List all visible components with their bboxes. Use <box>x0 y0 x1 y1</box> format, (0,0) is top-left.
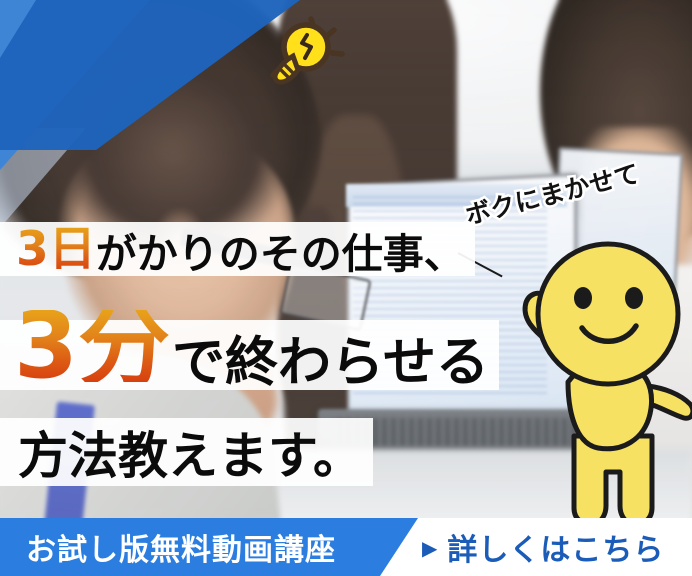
headline-3-text: 方法教えます。 <box>18 416 363 488</box>
headline-line-3: 方法教えます。 <box>0 418 373 486</box>
headline-2-highlight: 3分 <box>14 310 170 382</box>
promo-banner: ボクにまかせて 3日 がかりのその仕事、 3 <box>0 0 692 576</box>
headline-1-highlight: 3日 <box>16 226 96 273</box>
headline-line-1: 3日 がかりのその仕事、 <box>0 222 475 276</box>
mascot-eye-right <box>625 287 643 309</box>
lightbulb-icon <box>262 12 356 96</box>
headline-line-2: 3分 で終わらせる <box>0 320 499 390</box>
mascot-eye-left <box>574 287 592 309</box>
cta-offer-label: お試し版無料動画講座 <box>26 518 336 576</box>
headline-1-text: がかりのその仕事、 <box>96 220 465 280</box>
cta-details-link[interactable]: ▶ 詳しくはこちら <box>422 518 664 576</box>
play-arrow-icon: ▶ <box>422 538 438 558</box>
yellow-mascot-character <box>498 236 692 538</box>
cta-details-link-label: 詳しくはこちら <box>447 525 664 569</box>
headline-2-text: で終わらせる <box>172 320 489 396</box>
cta-bar[interactable]: お試し版無料動画講座 ▶ 詳しくはこちら <box>0 518 692 576</box>
